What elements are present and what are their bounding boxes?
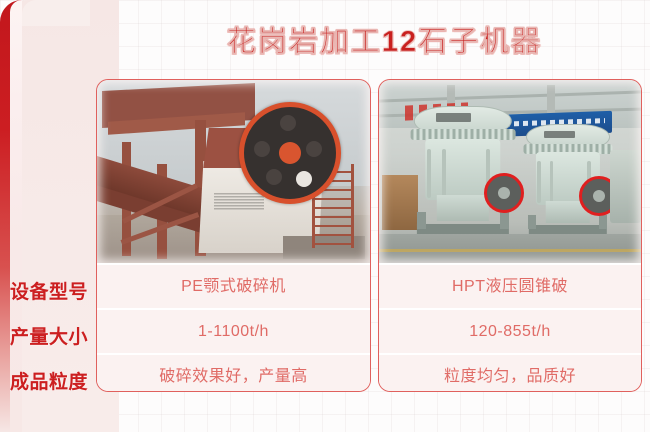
cone-crusher-unit-2 <box>523 124 612 234</box>
cell-feature-left: 破碎效果好，产量高 <box>97 355 370 392</box>
panel-top-highlight <box>22 0 90 26</box>
cell-capacity-right: 120-855t/h <box>379 310 641 355</box>
flywheel-detail <box>239 102 341 204</box>
cone-crusher-unit-1 <box>410 106 515 234</box>
cell-capacity-left: 1-1100t/h <box>97 310 370 355</box>
product-photo-jaw-crusher <box>97 80 370 263</box>
product-photo-cone-crusher <box>379 80 641 263</box>
cell-model-right: HPT液压圆锥破 <box>379 263 641 310</box>
page-title: 花岗岩加工12石子机器 <box>119 18 650 60</box>
red-circled-wheel-1 <box>484 173 524 213</box>
infographic-page: 花岗岩加工12石子机器 设备型号 产量大小 成品粒度 <box>0 0 650 432</box>
cell-model-left: PE颚式破碎机 <box>97 263 370 310</box>
product-card-cone-crusher[interactable]: HPT液压圆锥破 120-855t/h 粒度均匀，品质好 <box>378 79 642 392</box>
product-card-jaw-crusher[interactable]: PE颚式破碎机 1-1100t/h 破碎效果好，产量高 <box>96 79 371 392</box>
cell-feature-right: 粒度均匀，品质好 <box>379 355 641 392</box>
